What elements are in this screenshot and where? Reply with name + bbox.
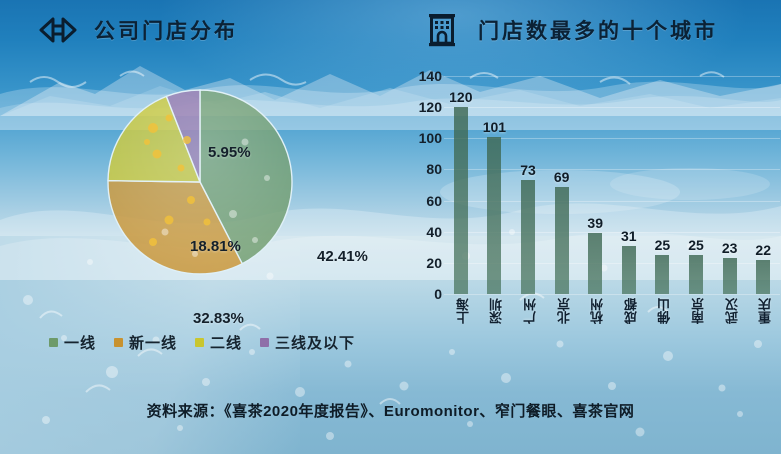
bar-rect bbox=[555, 187, 569, 294]
bar-column: 31 bbox=[622, 76, 636, 294]
exchange-arrows-icon bbox=[36, 12, 80, 48]
top-cities-bar-chart: 020406080100120140 120101736939312525232… bbox=[408, 76, 780, 346]
bar-rect bbox=[588, 233, 602, 294]
bar-column: 25 bbox=[689, 76, 703, 294]
bar-rect bbox=[655, 255, 669, 294]
pie-label-tier2: 18.81% bbox=[190, 238, 241, 255]
bar-column: 120 bbox=[454, 76, 468, 294]
x-axis-label: 上海 bbox=[454, 298, 473, 324]
bar-rect bbox=[723, 258, 737, 294]
bar-value-label: 31 bbox=[621, 228, 637, 244]
pie-label-tier3: 5.95% bbox=[208, 144, 251, 161]
y-axis-tick: 60 bbox=[426, 193, 442, 209]
legend-label: 新一线 bbox=[129, 332, 177, 353]
plot-area: 1201017369393125252322 bbox=[444, 76, 780, 294]
x-axis-label: 重庆 bbox=[756, 298, 775, 324]
legend-swatch-icon bbox=[260, 338, 269, 347]
y-axis-tick: 0 bbox=[434, 286, 442, 302]
y-axis-tick: 100 bbox=[419, 130, 442, 146]
bar-column: 22 bbox=[756, 76, 770, 294]
bar-value-label: 25 bbox=[688, 237, 704, 253]
bar-chart-header: 门店数最多的十个城市 bbox=[420, 8, 718, 52]
building-icon bbox=[420, 12, 464, 48]
bar-value-label: 23 bbox=[722, 240, 738, 256]
pie-label-tier1: 42.41% bbox=[317, 248, 368, 265]
bar-column: 101 bbox=[487, 76, 501, 294]
bar-rect bbox=[454, 107, 468, 294]
store-distribution-pie-chart: 42.41% 32.83% 18.81% 5.95% bbox=[95, 82, 305, 282]
bar-value-label: 73 bbox=[520, 162, 536, 178]
legend-swatch-icon bbox=[195, 338, 204, 347]
infographic-canvas: 公司门店分布 门店数最多的十个城市 bbox=[0, 0, 781, 454]
bar-rect bbox=[521, 180, 535, 294]
legend-item-一线[interactable]: 一线 bbox=[49, 332, 96, 353]
bar-rect bbox=[487, 137, 501, 294]
pie-chart-title: 公司门店分布 bbox=[94, 15, 238, 45]
y-axis-tick: 120 bbox=[419, 99, 442, 115]
bar-value-label: 69 bbox=[554, 169, 570, 185]
bar-column: 23 bbox=[723, 76, 737, 294]
bar-value-label: 39 bbox=[587, 215, 603, 231]
bar-column: 39 bbox=[588, 76, 602, 294]
pie-chart-header: 公司门店分布 bbox=[36, 8, 238, 52]
legend-label: 一线 bbox=[64, 332, 96, 353]
legend-swatch-icon bbox=[49, 338, 58, 347]
x-axis-label: 杭州 bbox=[588, 298, 607, 324]
legend-item-二线[interactable]: 二线 bbox=[195, 332, 242, 353]
source-note: 资料来源：《喜茶2020年度报告》、Euromonitor、窄门餐眼、喜茶官网 bbox=[0, 400, 781, 421]
y-axis: 020406080100120140 bbox=[408, 76, 442, 294]
y-axis-tick: 140 bbox=[419, 68, 442, 84]
grid-line bbox=[444, 294, 780, 295]
y-axis-tick: 40 bbox=[426, 224, 442, 240]
x-axis-label: 深圳 bbox=[487, 298, 506, 324]
legend-swatch-icon bbox=[114, 338, 123, 347]
pie-legend: 一线新一线二线三线及以下 bbox=[22, 330, 382, 354]
y-axis-tick: 20 bbox=[426, 255, 442, 271]
y-axis-tick: 80 bbox=[426, 161, 442, 177]
bar-chart-title: 门店数最多的十个城市 bbox=[478, 15, 718, 45]
bar-rect bbox=[622, 246, 636, 294]
bar-value-label: 22 bbox=[755, 242, 771, 258]
bar-column: 69 bbox=[555, 76, 569, 294]
bar-value-label: 25 bbox=[655, 237, 671, 253]
legend-item-三线及以下[interactable]: 三线及以下 bbox=[260, 332, 355, 353]
bar-rect bbox=[756, 260, 770, 294]
x-axis-label: 广州 bbox=[521, 298, 540, 324]
x-axis-label: 成都 bbox=[622, 298, 641, 324]
bar-value-label: 101 bbox=[483, 119, 506, 135]
x-axis-labels: 上海深圳广州北京杭州成都佛山南京武汉重庆 bbox=[444, 298, 780, 350]
bar-column: 25 bbox=[655, 76, 669, 294]
bar-column: 73 bbox=[521, 76, 535, 294]
x-axis-label: 北京 bbox=[555, 298, 574, 324]
bar-rect bbox=[689, 255, 703, 294]
legend-label: 三线及以下 bbox=[275, 332, 355, 353]
pie-label-new-tier1: 32.83% bbox=[193, 310, 244, 327]
bar-value-label: 120 bbox=[449, 89, 472, 105]
x-axis-label: 佛山 bbox=[655, 298, 674, 324]
x-axis-label: 南京 bbox=[689, 298, 708, 324]
legend-item-新一线[interactable]: 新一线 bbox=[114, 332, 177, 353]
x-axis-label: 武汉 bbox=[723, 298, 742, 324]
legend-label: 二线 bbox=[210, 332, 242, 353]
